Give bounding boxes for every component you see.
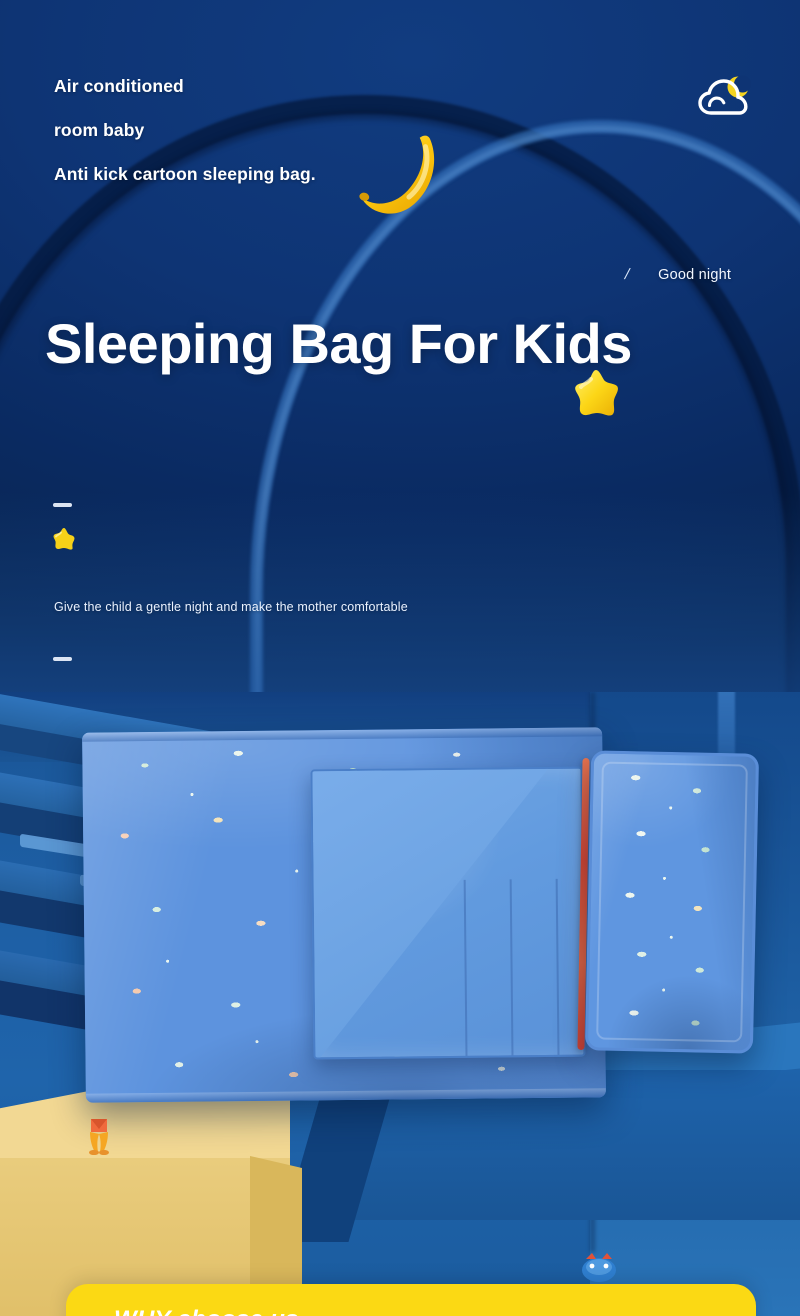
goodnight-group: / Good night (625, 266, 731, 283)
decor-dash-top (53, 503, 72, 507)
decor-dash-bottom (53, 657, 72, 661)
slash-divider: / (623, 266, 631, 283)
hero-banner: Air conditioned room baby Anti kick cart… (0, 0, 800, 692)
hero-floor-glow (0, 492, 800, 692)
page-title: Sleeping Bag For Kids (45, 315, 745, 374)
orange-toy-figure (78, 1113, 120, 1155)
why-choose-us-card: WHY choose us (66, 1284, 756, 1316)
cloud-moon-icon[interactable] (698, 72, 754, 118)
folded-inner-lining[interactable] (310, 767, 585, 1060)
why-choose-us-title: WHY choose us (114, 1306, 299, 1316)
eyebrow-line-3: Anti kick cartoon sleeping bag. (54, 164, 524, 185)
small-star-icon (52, 527, 76, 550)
eyebrow-line-1: Air conditioned (54, 76, 524, 97)
dinosaur-print-sleeping-bag[interactable] (0, 692, 800, 1316)
star-balloon-icon (570, 368, 622, 418)
eyebrow-line-2: room baby (54, 120, 524, 141)
goodnight-label: Good night (658, 267, 731, 283)
blue-toy-figure (578, 1250, 620, 1284)
hero-subline: Give the child a gentle night and make t… (54, 600, 614, 614)
product-photo-scene (0, 692, 800, 1316)
matching-pillow[interactable] (585, 750, 759, 1053)
pillow-seam (596, 762, 748, 1043)
